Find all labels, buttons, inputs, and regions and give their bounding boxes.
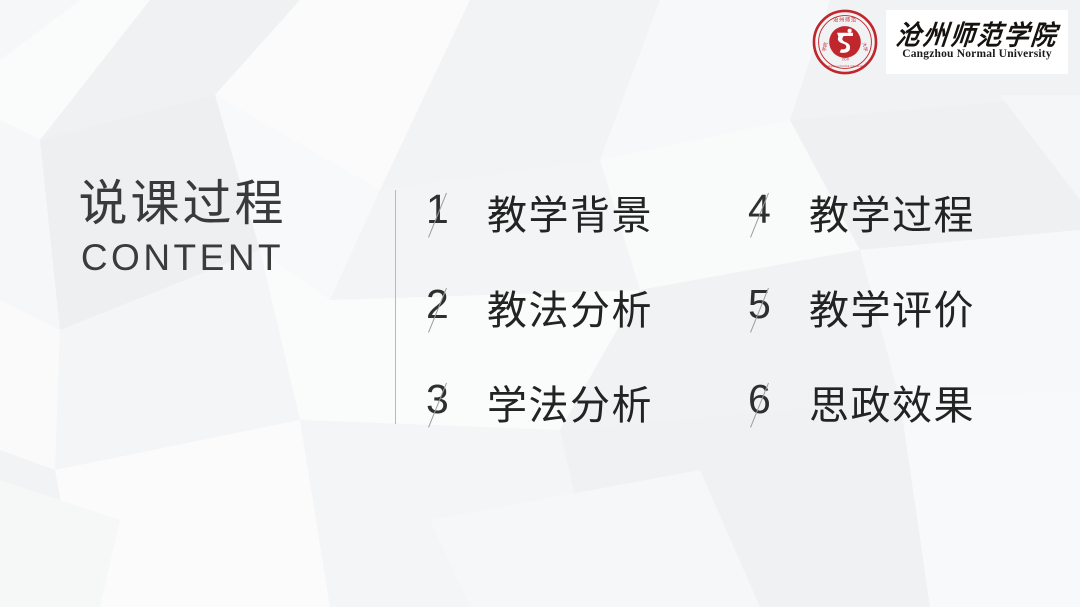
agenda-number-mark-2: 2 — [426, 282, 480, 340]
agenda-label-5: 教学评价 — [809, 291, 975, 331]
agenda-item-6[interactable]: 6 思政效果 — [730, 358, 1030, 453]
agenda-number-mark-6: 6 — [748, 377, 802, 435]
university-crest-icon: 沧州师范 学院 大学 1958 Cangzhou Normal Universi… — [812, 9, 878, 75]
agenda-number-mark-3: 3 — [426, 377, 480, 435]
agenda-number-mark-4: 4 — [748, 187, 802, 245]
crest-year: 1958 — [841, 57, 848, 61]
agenda-number-mark-1: 1 — [426, 187, 480, 245]
agenda-number-mark-5: 5 — [748, 282, 802, 340]
agenda-content: 说课过程 CONTENT 1 教学背景 4 教学过程 — [0, 168, 1080, 453]
wordmark-chinese: 沧州师范学院 — [895, 22, 1060, 49]
agenda-item-4[interactable]: 4 教学过程 — [730, 168, 1030, 263]
svg-text:大学: 大学 — [861, 42, 870, 53]
vertical-divider — [395, 190, 396, 424]
agenda-label-3: 学法分析 — [487, 386, 653, 426]
presentation-slide: 沧州师范 学院 大学 1958 Cangzhou Normal Universi… — [0, 0, 1080, 607]
university-wordmark-card: 沧州师范学院 Cangzhou Normal University — [886, 10, 1068, 74]
agenda-item-2[interactable]: 2 教法分析 — [426, 263, 726, 358]
page-title: 说课过程 — [0, 176, 365, 234]
university-logo-lockup: 沧州师范 学院 大学 1958 Cangzhou Normal Universi… — [812, 6, 1068, 78]
svg-text:Cangzhou Normal University: Cangzhou Normal University — [825, 64, 865, 68]
page-subtitle: CONTENT — [0, 236, 365, 280]
agenda-label-1: 教学背景 — [487, 196, 653, 236]
agenda-item-5[interactable]: 5 教学评价 — [730, 263, 1030, 358]
agenda-label-6: 思政效果 — [809, 386, 975, 426]
agenda-item-3[interactable]: 3 学法分析 — [426, 358, 726, 453]
agenda-item-grid: 1 教学背景 4 教学过程 2 教法分析 — [426, 168, 1030, 453]
agenda-title-block: 说课过程 CONTENT — [0, 168, 395, 280]
agenda-label-2: 教法分析 — [487, 291, 653, 331]
agenda-item-1[interactable]: 1 教学背景 — [426, 168, 726, 263]
svg-text:学院: 学院 — [821, 41, 830, 52]
agenda-label-4: 教学过程 — [809, 196, 975, 236]
